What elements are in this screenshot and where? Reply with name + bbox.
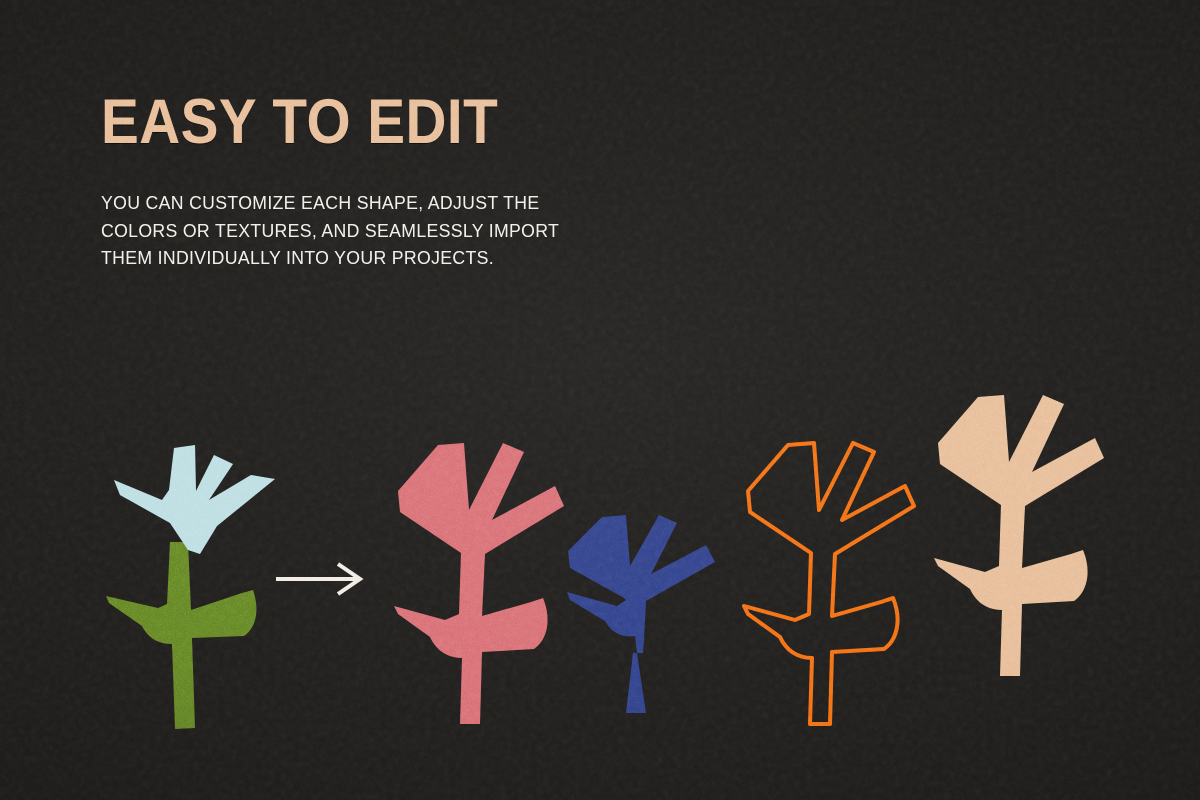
description-line-1: YOU CAN CUSTOMIZE EACH SHAPE, ADJUST THE: [101, 189, 693, 217]
flower-1-head: [114, 445, 275, 554]
poster-canvas: EASY TO EDIT YOU CAN CUSTOMIZE EACH SHAP…: [0, 0, 1200, 800]
description-line-3: THEM INDIVIDUALLY INTO YOUR PROJECTS.: [101, 244, 693, 272]
flower-2-body: [394, 443, 564, 724]
flower-5-body: [934, 395, 1104, 676]
description-line-2: COLORS OR TEXTURES, AND SEAMLESSLY IMPOR…: [101, 217, 693, 245]
flower-3-body: [567, 515, 715, 713]
page-title: EASY TO EDIT: [101, 92, 659, 153]
flower-5-tan[interactable]: [926, 386, 1126, 676]
flower-2-red[interactable]: [386, 434, 586, 724]
flower-1-stem: [106, 542, 256, 729]
page-description: YOU CAN CUSTOMIZE EACH SHAPE, ADJUST THE…: [101, 153, 693, 272]
flower-3-navy[interactable]: [560, 508, 740, 713]
right-arrow-icon: [274, 562, 366, 596]
flower-4-orange-outline[interactable]: [736, 434, 936, 724]
text-block: EASY TO EDIT YOU CAN CUSTOMIZE EACH SHAP…: [101, 92, 721, 272]
flower-4-body: [744, 443, 914, 724]
